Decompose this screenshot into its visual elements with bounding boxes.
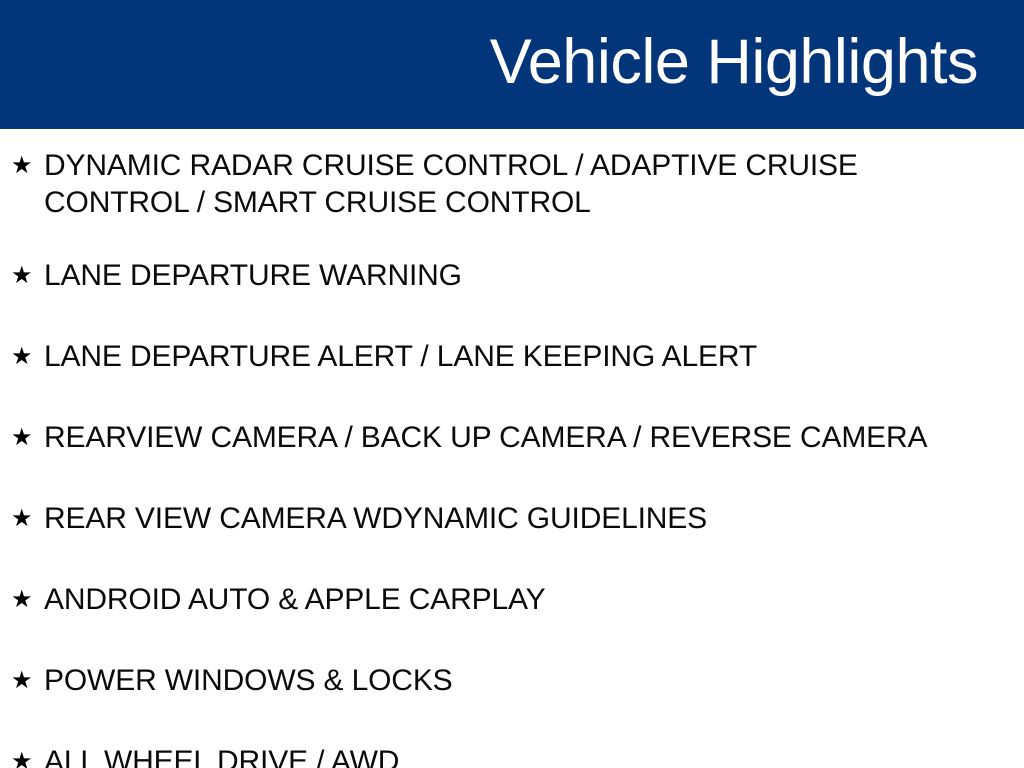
vehicle-highlights-slide: Vehicle Highlights ★ DYNAMIC RADAR CRUIS… bbox=[0, 0, 1024, 768]
star-bullet-icon: ★ bbox=[11, 662, 37, 699]
list-item-label: REAR VIEW CAMERA WDYNAMIC GUIDELINES bbox=[44, 500, 1000, 537]
page-title: Vehicle Highlights bbox=[490, 29, 978, 95]
star-bullet-icon: ★ bbox=[11, 257, 37, 294]
list-item-label: POWER WINDOWS & LOCKS bbox=[44, 662, 1000, 699]
list-item-label: ALL WHEEL DRIVE / AWD bbox=[44, 743, 1000, 768]
list-item: ★ DYNAMIC RADAR CRUISE CONTROL / ADAPTIV… bbox=[0, 147, 916, 221]
star-bullet-icon: ★ bbox=[11, 419, 37, 456]
list-item-label: DYNAMIC RADAR CRUISE CONTROL / ADAPTIVE … bbox=[44, 147, 892, 221]
list-item-label: REARVIEW CAMERA / BACK UP CAMERA / REVER… bbox=[44, 419, 1000, 456]
list-item-label: ANDROID AUTO & APPLE CARPLAY bbox=[44, 581, 1000, 618]
star-bullet-icon: ★ bbox=[11, 147, 37, 184]
star-bullet-icon: ★ bbox=[11, 581, 37, 618]
star-bullet-icon: ★ bbox=[11, 743, 37, 768]
list-item: ★ POWER WINDOWS & LOCKS bbox=[0, 662, 1024, 699]
vehicle-highlights-list: ★ DYNAMIC RADAR CRUISE CONTROL / ADAPTIV… bbox=[0, 129, 1024, 768]
list-item-label: LANE DEPARTURE WARNING bbox=[44, 257, 1000, 294]
list-item: ★ ALL WHEEL DRIVE / AWD bbox=[0, 743, 1024, 768]
slide-header-band: Vehicle Highlights bbox=[0, 0, 1024, 129]
list-item-label: LANE DEPARTURE ALERT / LANE KEEPING ALER… bbox=[44, 338, 1000, 375]
star-bullet-icon: ★ bbox=[11, 500, 37, 537]
list-item: ★ REARVIEW CAMERA / BACK UP CAMERA / REV… bbox=[0, 419, 1024, 456]
list-item: ★ LANE DEPARTURE ALERT / LANE KEEPING AL… bbox=[0, 338, 1024, 375]
list-item: ★ LANE DEPARTURE WARNING bbox=[0, 257, 1024, 294]
list-item: ★ ANDROID AUTO & APPLE CARPLAY bbox=[0, 581, 1024, 618]
star-bullet-icon: ★ bbox=[11, 338, 37, 375]
list-item: ★ REAR VIEW CAMERA WDYNAMIC GUIDELINES bbox=[0, 500, 1024, 537]
